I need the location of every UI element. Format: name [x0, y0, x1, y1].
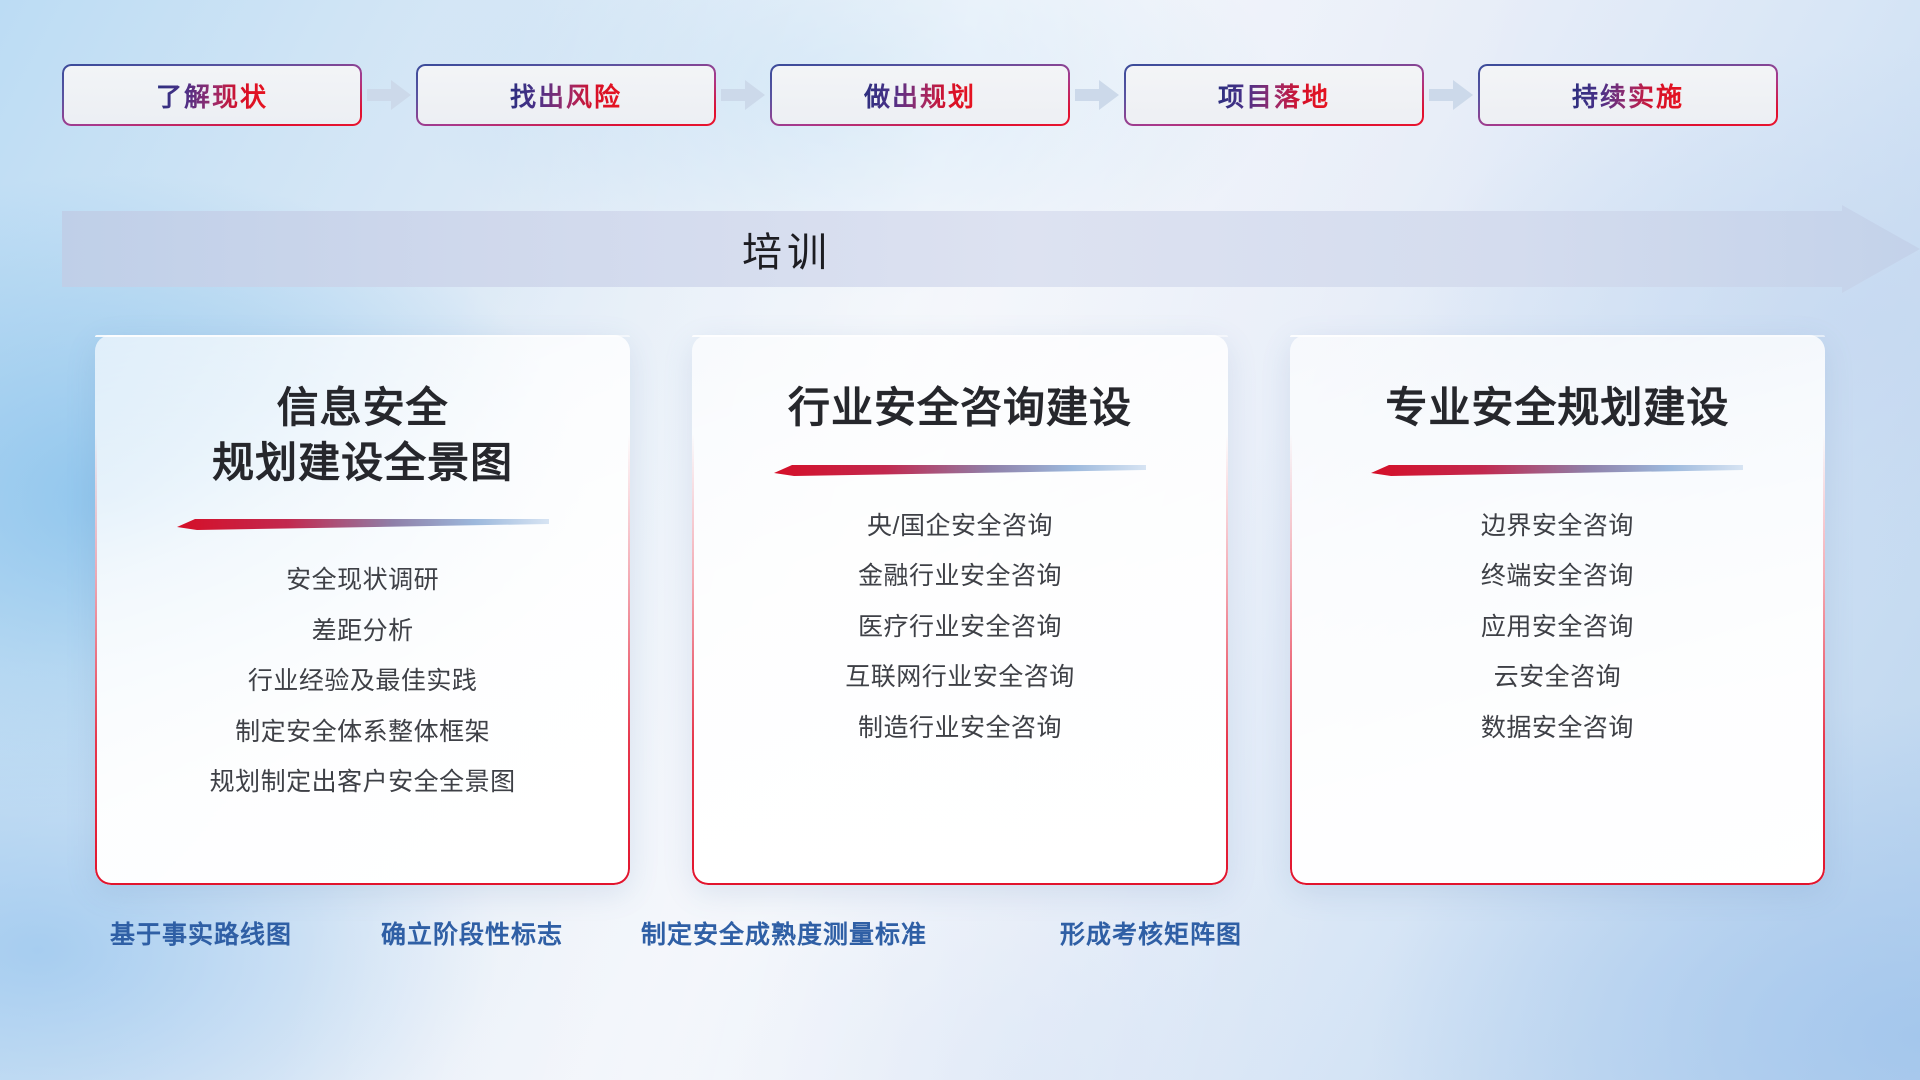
list-item: 应用安全咨询	[1481, 607, 1634, 649]
list-item: 云安全咨询	[1494, 657, 1622, 699]
training-banner: 培训	[62, 205, 1920, 293]
card-item-list: 央/国企安全咨询 金融行业安全咨询 医疗行业安全咨询 互联网行业安全咨询 制造行…	[845, 506, 1075, 750]
gradient-rule-icon	[774, 462, 1146, 476]
card-information-security-panorama[interactable]: 信息安全 规划建设全景图 安全现状调研	[95, 335, 630, 885]
card-item-list: 边界安全咨询 终端安全咨询 应用安全咨询 云安全咨询 数据安全咨询	[1481, 506, 1634, 750]
step-label: 了解现状	[156, 77, 268, 114]
list-item: 差距分析	[312, 611, 414, 653]
list-item: 边界安全咨询	[1481, 506, 1634, 548]
step-label: 找出风险	[510, 77, 622, 114]
banner-title: 培训	[62, 205, 1512, 293]
list-item: 央/国企安全咨询	[867, 506, 1053, 548]
list-item: 金融行业安全咨询	[858, 556, 1062, 598]
arrow-right-icon	[1070, 64, 1124, 126]
list-item: 制定安全体系整体框架	[235, 712, 490, 754]
list-item: 互联网行业安全咨询	[845, 657, 1075, 699]
list-item: 制造行业安全咨询	[858, 708, 1062, 750]
footer-label-maturity: 制定安全成熟度测量标准	[641, 915, 927, 951]
step-label: 持续实施	[1572, 77, 1684, 114]
slide-canvas: 了解现状 找出风险 做出规划 项目落地	[0, 0, 1920, 1080]
card-item-list: 安全现状调研 差距分析 行业经验及最佳实践 制定安全体系整体框架 规划制定出客户…	[210, 560, 516, 804]
list-item: 终端安全咨询	[1481, 556, 1634, 598]
footer-label-milestones: 确立阶段性标志	[381, 915, 563, 951]
card-row: 信息安全 规划建设全景图 安全现状调研	[95, 335, 1825, 885]
card-professional-security-planning[interactable]: 专业安全规划建设 边界安全咨询	[1290, 335, 1825, 885]
step-box-3[interactable]: 做出规划	[770, 64, 1070, 126]
card-title: 专业安全规划建设	[1385, 381, 1729, 436]
step-box-2[interactable]: 找出风险	[416, 64, 716, 126]
card-industry-security-consulting[interactable]: 行业安全咨询建设 央/国企安全咨询	[692, 335, 1227, 885]
list-item: 数据安全咨询	[1481, 708, 1634, 750]
list-item: 规划制定出客户安全全景图	[210, 762, 516, 804]
footer-label-row: 基于事实路线图 确立阶段性标志 制定安全成熟度测量标准 形成考核矩阵图	[0, 915, 1920, 963]
step-box-1[interactable]: 了解现状	[62, 64, 362, 126]
list-item: 安全现状调研	[286, 560, 439, 602]
step-label: 做出规划	[864, 77, 976, 114]
card-title: 行业安全咨询建设	[788, 381, 1132, 436]
step-box-5[interactable]: 持续实施	[1478, 64, 1778, 126]
arrow-right-icon	[716, 64, 770, 126]
process-step-row: 了解现状 找出风险 做出规划 项目落地	[62, 64, 1857, 126]
step-label: 项目落地	[1218, 77, 1330, 114]
footer-label-roadmap: 基于事实路线图	[110, 915, 292, 951]
arrow-right-icon	[1424, 64, 1478, 126]
gradient-rule-icon	[177, 516, 549, 530]
list-item: 医疗行业安全咨询	[858, 607, 1062, 649]
gradient-rule-icon	[1371, 462, 1743, 476]
list-item: 行业经验及最佳实践	[248, 661, 478, 703]
card-title: 信息安全 规划建设全景图	[212, 381, 513, 490]
step-box-4[interactable]: 项目落地	[1124, 64, 1424, 126]
footer-label-matrix: 形成考核矩阵图	[1060, 915, 1242, 951]
arrow-right-icon	[362, 64, 416, 126]
